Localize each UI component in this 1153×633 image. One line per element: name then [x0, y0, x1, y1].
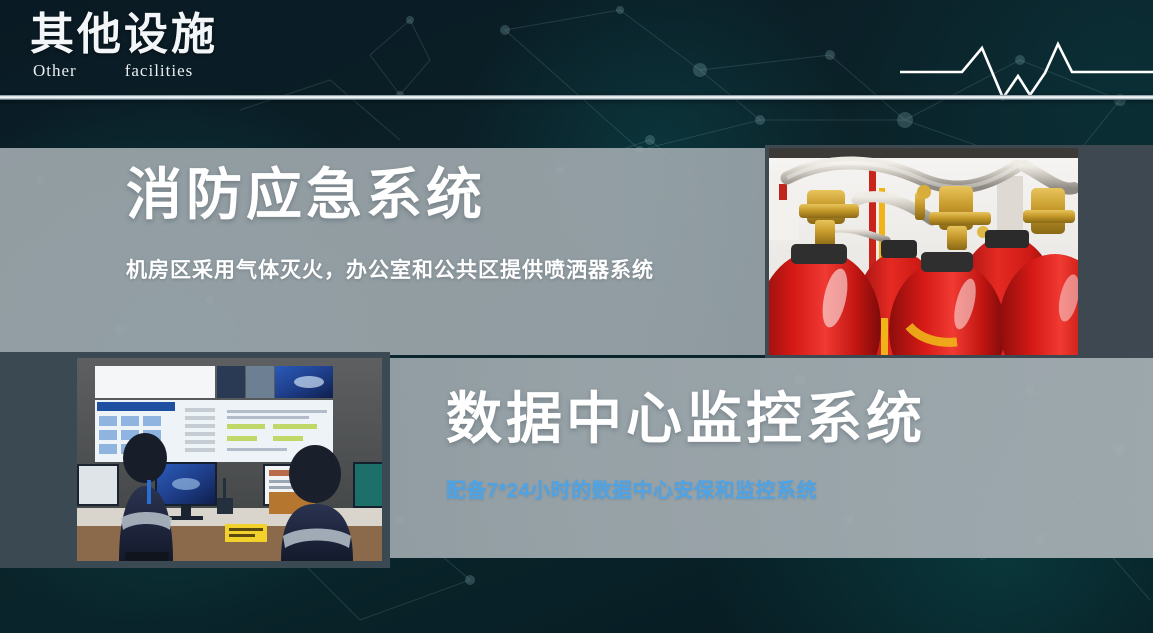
panel-1-subtitle: 机房区采用气体灭火，办公室和公共区提供喷洒器系统: [126, 254, 654, 284]
panel-2-title: 数据中心监控系统: [446, 388, 926, 450]
heartbeat-line-icon: [900, 40, 1153, 102]
page-title: 其他设施: [30, 12, 218, 59]
panel-1-title: 消防应急系统: [126, 164, 654, 226]
brand-title-group: 其他设施 Other facilities: [30, 12, 218, 81]
header-divider: [0, 95, 1153, 100]
page-subtitle: Other facilities: [30, 61, 218, 81]
fire-suppression-cylinders-photo: [769, 148, 1078, 355]
slide-header: 其他设施 Other facilities: [0, 0, 1153, 100]
data-center-control-room-photo: [77, 358, 382, 561]
panel-2-subtitle: 配备7*24小时的数据中心安保和监控系统: [446, 474, 926, 503]
page-subtitle-word-1: Other: [33, 61, 77, 81]
page-subtitle-word-2: facilities: [125, 61, 194, 81]
slide-root: 其他设施 Other facilities 消防应急系统 机房区采用气体灭火，办…: [0, 0, 1153, 633]
panel-1-text-block: 消防应急系统 机房区采用气体灭火，办公室和公共区提供喷洒器系统: [126, 164, 654, 284]
panel-2-text-block: 数据中心监控系统 配备7*24小时的数据中心安保和监控系统: [446, 388, 926, 503]
